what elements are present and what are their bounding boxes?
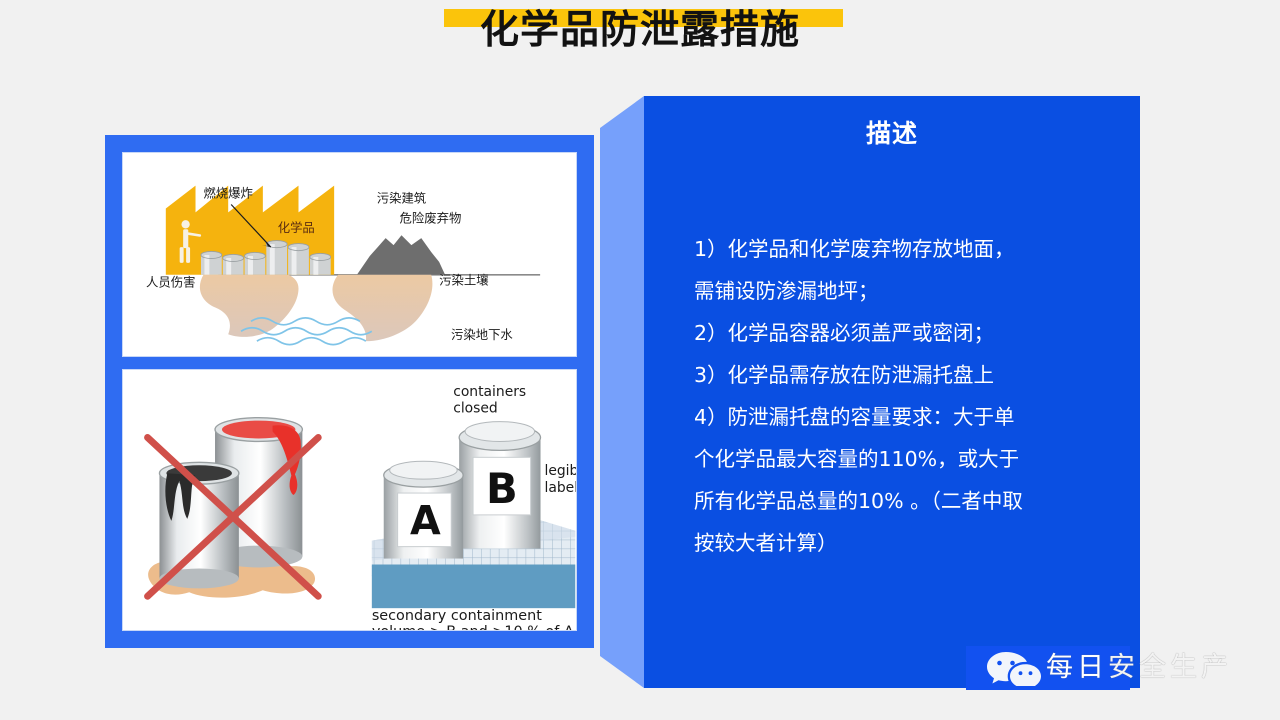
contamination-diagram-svg: 燃烧爆炸 化学品 污染建筑 危险废弃物 人员伤害 污染土壤 污染地下水 xyxy=(123,153,576,356)
description-header: 描述 xyxy=(644,118,1140,150)
label-legible-2: labels xyxy=(545,480,577,496)
containment-comparison-image: B A containers closed legible labels sec… xyxy=(122,369,577,631)
description-panel-bevel xyxy=(600,96,644,688)
drum-a: A xyxy=(384,461,463,558)
description-item: 1）化学品和化学废弃物存放地面，需铺设防渗漏地坪； xyxy=(694,228,1114,312)
wechat-icon xyxy=(986,650,1042,686)
contamination-diagram-image: 燃烧爆炸 化学品 污染建筑 危险废弃物 人员伤害 污染土壤 污染地下水 xyxy=(122,152,577,357)
description-item-line: 个化学品最大容量的110%，或大于 xyxy=(694,438,1114,480)
drum-b: B xyxy=(459,422,540,549)
label-hazardous-waste: 危险废弃物 xyxy=(400,210,462,225)
description-item-line: 2）化学品容器必须盖严或密闭； xyxy=(694,312,1114,354)
description-item: 4）防泄漏托盘的容量要求：大于单个化学品最大容量的110%，或大于所有化学品总量… xyxy=(694,396,1114,564)
description-item: 2）化学品容器必须盖严或密闭； xyxy=(694,312,1114,354)
drum-a-label: A xyxy=(410,499,441,545)
description-panel: 描述 1）化学品和化学废弃物存放地面，需铺设防渗漏地坪；2）化学品容器必须盖严或… xyxy=(644,96,1140,688)
watermark-text: 每日安全生产 xyxy=(1046,648,1232,688)
description-item-line: 所有化学品总量的10% 。（二者中取 xyxy=(694,480,1114,522)
label-personal-injury: 人员伤害 xyxy=(146,275,195,290)
description-item-line: 需铺设防渗漏地坪； xyxy=(694,270,1114,312)
label-chemicals: 化学品 xyxy=(278,220,315,235)
drum-b-label: B xyxy=(486,464,518,513)
label-legible-1: legible xyxy=(545,463,577,479)
label-contaminated-building: 污染建筑 xyxy=(377,191,426,206)
watermark-text-dim: 安全生产 xyxy=(1108,652,1232,683)
label-containment-2: volume > B and >10 % of A+B xyxy=(372,624,576,630)
description-list: 1）化学品和化学废弃物存放地面，需铺设防渗漏地坪；2）化学品容器必须盖严或密闭；… xyxy=(694,228,1114,564)
label-combustion: 燃烧爆炸 xyxy=(203,186,252,201)
description-item-line: 3）化学品需存放在防泄漏托盘上 xyxy=(694,354,1114,396)
label-containers-closed-2: closed xyxy=(453,401,498,417)
label-contaminated-groundwater: 污染地下水 xyxy=(451,327,513,342)
watermark: 每日安全生产 xyxy=(966,646,1280,690)
slide-title-area: 化学品防泄露措施 xyxy=(0,0,1280,80)
page-title: 化学品防泄露措施 xyxy=(0,8,1280,54)
label-containers-closed-1: containers xyxy=(453,384,526,400)
containment-comparison-svg: B A containers closed legible labels sec… xyxy=(123,370,576,630)
label-containment-1: secondary containment xyxy=(372,608,542,624)
illustration-panel: 燃烧爆炸 化学品 污染建筑 危险废弃物 人员伤害 污染土壤 污染地下水 xyxy=(105,135,594,648)
description-item: 3）化学品需存放在防泄漏托盘上 xyxy=(694,354,1114,396)
description-item-line: 4）防泄漏托盘的容量要求：大于单 xyxy=(694,396,1114,438)
description-item-line: 1）化学品和化学废弃物存放地面， xyxy=(694,228,1114,270)
label-contaminated-soil: 污染土壤 xyxy=(439,273,488,288)
description-item-line: 按较大者计算） xyxy=(694,522,1114,564)
watermark-text-highlighted: 每日 xyxy=(1046,652,1108,683)
